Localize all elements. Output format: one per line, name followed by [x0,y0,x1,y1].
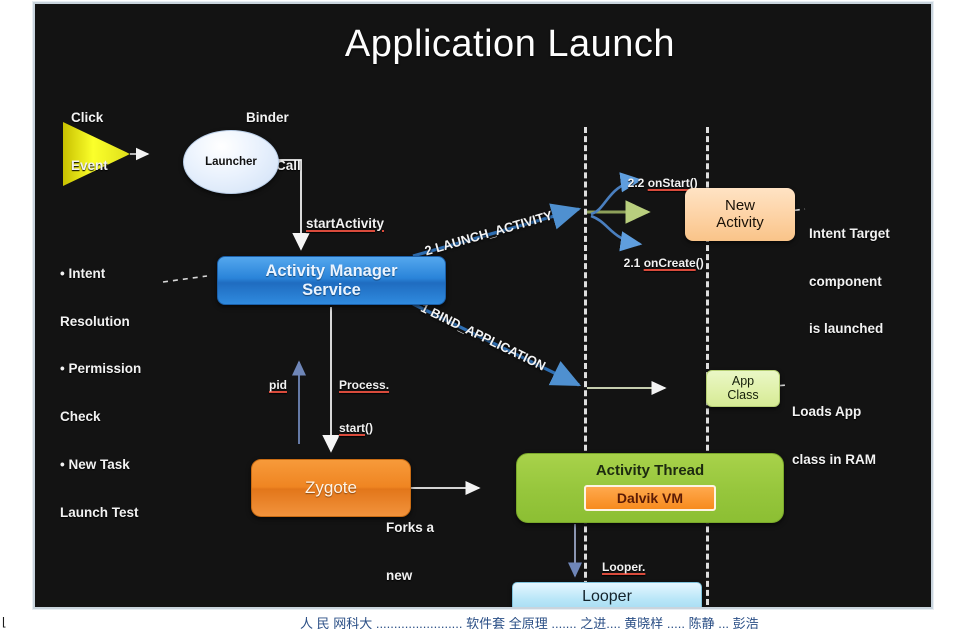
node-dalvik-vm-label: Dalvik VM [617,490,683,506]
label-click-event-line2: Event [71,158,108,174]
label-process-start-call: start() [339,421,389,435]
label-on-create-parens: () [696,256,704,270]
note-loads-app-class: Loads App class in RAM [792,372,876,499]
arrow-layer [35,4,931,607]
label-on-create: 2.1 onCreate() [597,242,704,284]
node-zygote-label: Zygote [305,478,357,498]
diagram-canvas: Application Launch [35,4,931,607]
notes-ams: • Intent Resolution • Permission Check •… [60,234,141,552]
label-on-start: 2.2 onStart() [601,162,698,204]
node-launcher-label: Launcher [205,156,257,168]
node-activity-manager-service[interactable]: Activity Manager Service [217,256,446,305]
note-intent-target-line3: is launched [809,321,890,337]
label-pid: pid [269,378,287,392]
diagram-title: Application Launch [300,22,720,67]
note-intent-target-line1: Intent Target [809,226,890,242]
node-ams-line1: Activity Manager [265,262,397,280]
notes-ams-line4: Check [60,409,141,425]
note-loads-app-line2: class in RAM [792,452,876,468]
node-looper[interactable]: Looper [512,582,702,609]
notes-ams-line3: • Permission [60,361,141,377]
node-new-activity[interactable]: New Activity [685,188,795,241]
node-activity-thread-label: Activity Thread [517,462,783,479]
node-app-class-line2: Class [727,389,758,403]
node-app-class[interactable]: App Class [706,370,780,407]
label-forks-line2: new [386,568,438,584]
notes-ams-line6: Launch Test [60,505,141,521]
lifeline-left [584,127,587,605]
page-footer-scrap-left: [ [2,617,6,628]
label-on-create-num: 2.1 [624,256,644,270]
node-activity-thread[interactable]: Activity Thread Dalvik VM [516,453,784,523]
node-zygote[interactable]: Zygote [251,459,411,517]
label-launch-activity: 2 LAUNCH_ACTIVITY [423,208,554,259]
label-start-activity-code: startActivity [306,216,384,232]
node-dalvik-vm[interactable]: Dalvik VM [584,485,716,511]
note-intent-target: Intent Target component is launched [809,194,890,369]
label-binder-line1: Binder [246,110,301,126]
label-on-start-num: 2.2 [628,176,648,190]
node-looper-label: Looper [582,588,632,606]
node-new-activity-line1: New [716,198,764,215]
node-new-activity-line2: Activity [716,215,764,232]
label-forks-line1: Forks a [386,520,438,536]
note-intent-target-line2: component [809,274,890,290]
notes-ams-line2: Resolution [60,314,141,330]
node-app-class-line1: App [727,375,758,389]
label-on-create-code: onCreate [644,256,696,270]
page-footer-scrap: 人 民 网科大 ........................ 软件套 全原理… [0,617,963,629]
label-process-start: Process. start() [339,350,389,463]
label-process-start-code: Process. [339,378,389,392]
label-click-event-line1: Click [71,110,108,126]
notes-ams-line1: • Intent [60,266,141,282]
diagram-slide: Application Launch [33,2,933,609]
notes-ams-line5: • New Task [60,457,141,473]
page-root: Application Launch [0,0,963,629]
label-bind-application: 1 BIND_APPLICATION [418,300,548,374]
page-footer-scrap-text: 人 民 网科大 ........................ 软件套 全原理… [300,617,759,629]
note-loads-app-line1: Loads App [792,404,876,420]
label-click-event: Click Event [71,78,108,205]
label-looper-code: Looper. [602,560,645,574]
node-ams-line2: Service [265,281,397,299]
node-launcher[interactable]: Launcher [183,130,279,194]
label-on-start-code: onStart [648,176,690,190]
